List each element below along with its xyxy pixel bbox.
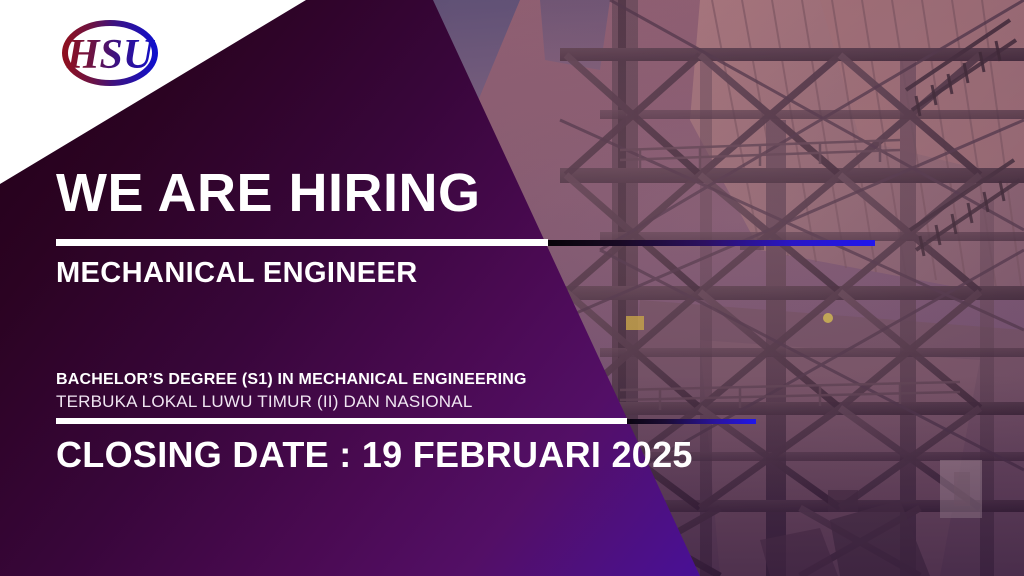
hsu-logo-icon: HSU (56, 17, 164, 89)
position-title: MECHANICAL ENGINEER (56, 257, 418, 290)
divider-primary-white (56, 239, 548, 246)
hiring-poster: HSU WE ARE HIRING MECHANICAL ENGINEER BA… (0, 0, 1024, 576)
qualification-primary: BACHELOR’S DEGREE (S1) IN MECHANICAL ENG… (56, 371, 527, 389)
qualification-secondary: TERBUKA LOKAL LUWU TIMUR (II) DAN NASION… (56, 392, 472, 412)
page-title: WE ARE HIRING (56, 166, 481, 221)
divider-secondary-white (56, 418, 627, 424)
company-logo: HSU (56, 17, 164, 89)
divider-secondary-accent (627, 419, 756, 424)
divider-primary-accent (548, 240, 875, 246)
closing-date: CLOSING DATE : 19 FEBRUARI 2025 (56, 434, 693, 476)
logo-wordmark: HSU (66, 32, 156, 78)
